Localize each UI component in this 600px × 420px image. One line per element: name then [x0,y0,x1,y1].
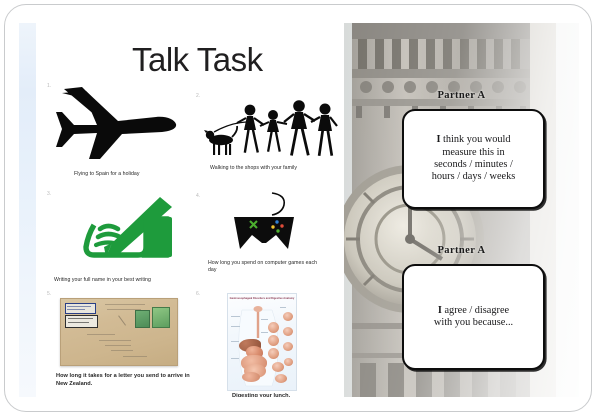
item-caption-1: Flying to Spain for a holiday [74,171,204,178]
speech-bubble-2: I agree / disagree with you because... [402,264,545,370]
item-number-1: 1. [47,83,51,89]
hand-writing-pencil-icon [64,195,174,263]
item-number-4: 4. [196,193,200,199]
speech-bubble-2-text: I agree / disagree with you because... [428,305,519,330]
item-caption-5: How long it takes for a letter you send … [56,373,196,389]
airmail-envelope-image [59,296,179,368]
speech-bubble-1: I think you would measure this in second… [402,109,545,209]
item-number-6: 6. [196,291,200,297]
family-walking-dog-icon [204,99,340,161]
game-controller-icon [228,191,300,257]
airplane-icon [56,81,180,163]
digestive-anatomy-poster-image: Gastroesophageal Disorders and Digestive… [227,293,295,389]
talk-task-panel: Talk Task 1. Flying to Spain for a holid… [36,23,344,397]
item-number-3: 3. [47,191,51,197]
slide-frame: Talk Task 1. Flying to Spain for a holid… [4,4,592,412]
partner-prompts-panel: Partner A I think you would measure this… [344,23,579,397]
item-caption-4: How long you spend on computer games eac… [208,260,320,275]
speech-bubble-1-body: think you would measure this in seconds … [432,134,516,182]
item-caption-2: Walking to the shops with your family [210,165,350,172]
speech-bubble-2-body: agree / disagree with you because... [434,305,513,328]
item-caption-6: Digesting your lunch. [232,393,322,397]
partner-label-2: Partner A [344,245,579,256]
item-number-2: 2. [196,93,200,99]
partner-label-1: Partner A [344,90,579,101]
item-number-5: 5. [47,291,51,297]
item-caption-3: Writing your full name in your best writ… [54,277,204,284]
speech-bubble-1-text: I think you would measure this in second… [426,134,522,184]
left-decorative-strip [19,23,36,397]
page-title: Talk Task [132,41,263,79]
slide-canvas: Talk Task 1. Flying to Spain for a holid… [19,23,579,397]
